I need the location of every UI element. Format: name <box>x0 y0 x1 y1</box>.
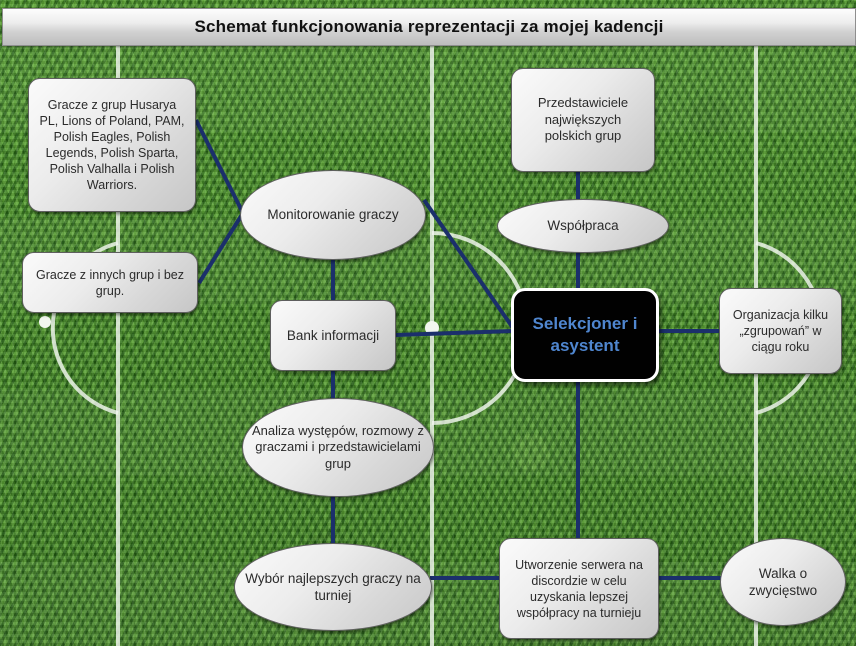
node-organizacja[interactable]: Organizacja kilku „zgrupowań” w ciągu ro… <box>719 288 842 374</box>
node-label: Organizacja kilku „zgrupowań” w ciągu ro… <box>720 307 841 355</box>
node-label: Selekcjoner i asystent <box>514 313 656 357</box>
node-przedstawiciele[interactable]: Przedstawiciele największych polskich gr… <box>511 68 655 172</box>
node-label: Bank informacji <box>279 327 387 344</box>
page-title: Schemat funkcjonowania reprezentacji za … <box>194 17 663 37</box>
node-gracze-husarya[interactable]: Gracze z grup Husarya PL, Lions of Polan… <box>28 78 196 212</box>
node-label: Monitorowanie graczy <box>259 206 406 223</box>
node-wybor[interactable]: Wybór najlepszych graczy na turniej <box>234 543 432 631</box>
node-label: Walka o zwycięstwo <box>721 565 845 600</box>
node-selekcjoner-hub[interactable]: Selekcjoner i asystent <box>511 288 659 382</box>
node-gracze-inne[interactable]: Gracze z innych grup i bez grup. <box>22 252 198 313</box>
node-discord[interactable]: Utworzenie serwera na discordzie w celu … <box>499 538 659 639</box>
diagram-canvas: Schemat funkcjonowania reprezentacji za … <box>0 0 856 646</box>
diagram-title-bar: Schemat funkcjonowania reprezentacji za … <box>2 8 856 46</box>
node-label: Gracze z innych grup i bez grup. <box>23 267 197 299</box>
node-label: Wybór najlepszych graczy na turniej <box>235 570 431 605</box>
node-label: Przedstawiciele największych polskich gr… <box>512 95 654 145</box>
node-label: Analiza występów, rozmowy z graczami i p… <box>243 423 433 473</box>
node-walka[interactable]: Walka o zwycięstwo <box>720 538 846 626</box>
node-label: Utworzenie serwera na discordzie w celu … <box>500 557 658 621</box>
node-label: Współpraca <box>539 217 626 234</box>
node-monitorowanie[interactable]: Monitorowanie graczy <box>240 170 426 260</box>
node-label: Gracze z grup Husarya PL, Lions of Polan… <box>29 97 195 193</box>
node-bank-informacji[interactable]: Bank informacji <box>270 300 396 371</box>
node-analiza[interactable]: Analiza występów, rozmowy z graczami i p… <box>242 398 434 497</box>
node-wspolpraca[interactable]: Współpraca <box>497 199 669 253</box>
